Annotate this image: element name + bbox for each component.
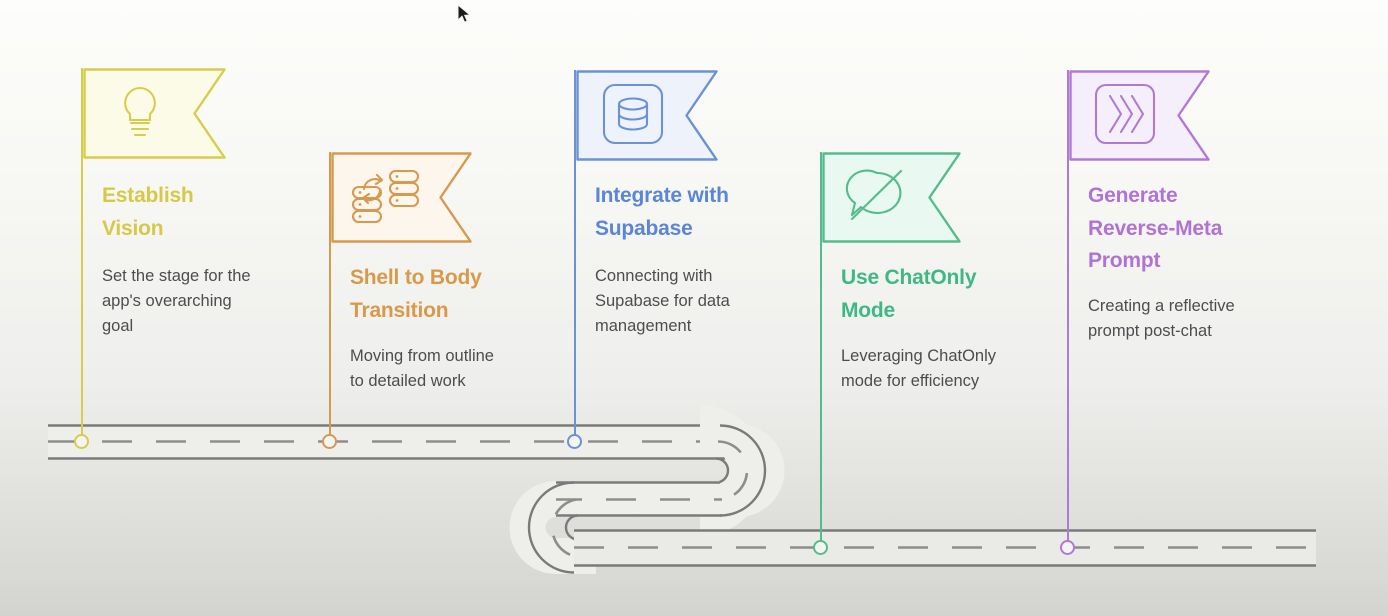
milestone-title: Integrate with Supabase: [595, 180, 810, 245]
milestone-title: Generate Reverse-Meta Prompt: [1088, 180, 1303, 278]
road-segment-bottom: [574, 530, 1316, 566]
milestone-node-marker[interactable]: [322, 434, 337, 449]
milestone-description: Leveraging ChatOnly mode for efficiency: [841, 344, 1051, 394]
milestone-description: Set the stage for the app's overarching …: [102, 264, 312, 339]
database-icon: [602, 83, 664, 145]
database-icon: [576, 70, 689, 158]
milestone-integrate-with-supabase[interactable]: Integrate with SupabaseConnecting with S…: [574, 0, 575, 616]
milestone-title: Shell to Body Transition: [350, 262, 565, 327]
lightbulb-icon: [83, 68, 197, 156]
milestone-title: Establish Vision: [102, 180, 317, 245]
data-transfer-icon: [331, 152, 443, 240]
roadmap-canvas: Establish VisionSet the stage for the ap…: [0, 0, 1388, 616]
milestone-description: Moving from outline to detailed work: [350, 344, 560, 394]
milestone-generate-reverse-meta-prompt[interactable]: Generate Reverse-Meta PromptCreating a r…: [1067, 0, 1068, 616]
milestone-description: Creating a reflective prompt post-chat: [1088, 294, 1298, 344]
no-chat-icon: [822, 152, 932, 240]
road-segment-middle: [552, 481, 722, 517]
milestone-title: Use ChatOnly Mode: [841, 262, 1056, 327]
no-chat-icon: [845, 167, 909, 225]
milestone-establish-vision[interactable]: Establish VisionSet the stage for the ap…: [81, 0, 82, 616]
milestone-node-marker[interactable]: [74, 434, 89, 449]
data-transfer-icon: [350, 165, 424, 227]
chevrons-right-icon: [1069, 70, 1181, 158]
lightbulb-icon: [112, 83, 168, 141]
milestone-flag[interactable]: [83, 68, 226, 164]
milestone-flag[interactable]: [331, 152, 472, 248]
milestone-shell-to-body-transition[interactable]: Shell to Body TransitionMoving from outl…: [329, 0, 330, 616]
chevrons-right-icon: [1094, 83, 1156, 145]
road-segment-top: [48, 424, 740, 460]
milestone-node-marker[interactable]: [567, 434, 582, 449]
milestone-flag[interactable]: [1069, 70, 1210, 166]
milestone-flag[interactable]: [822, 152, 961, 248]
milestone-use-chatonly-mode[interactable]: Use ChatOnly ModeLeveraging ChatOnly mod…: [820, 0, 821, 616]
milestone-flag[interactable]: [576, 70, 718, 166]
milestone-node-marker[interactable]: [813, 540, 828, 555]
milestone-node-marker[interactable]: [1060, 540, 1075, 555]
milestone-description: Connecting with Supabase for data manage…: [595, 264, 805, 339]
